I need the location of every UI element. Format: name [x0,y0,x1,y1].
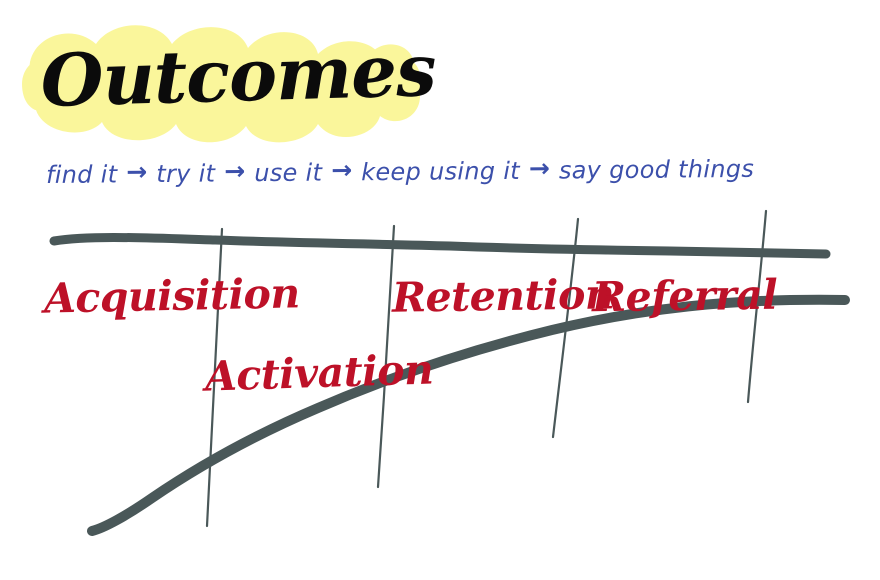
arrow-icon-2: → [215,156,254,185]
page-title: Outcomes [40,27,437,123]
user-journey-flow: find it → try it → use it → keep using i… [46,154,754,189]
journey-step-find-it: find it [46,160,118,189]
funnel-bottom-curve [92,300,845,531]
arrow-icon-1: → [117,157,156,186]
whiteboard-sketch-canvas: Outcomes find it → try it → use it → kee… [0,0,880,580]
journey-step-try-it: try it [156,160,215,189]
stage-label-acquisition: Acquisition [44,269,301,322]
stage-label-referral: Referral [592,271,778,322]
stage-label-activation: Activation [204,345,434,400]
journey-step-use-it: use it [254,159,322,188]
journey-step-keep-using-it: keep using it [361,157,520,186]
journey-step-say-good-things: say good things [559,155,754,185]
funnel-top-line [54,237,826,254]
stage-label-retention: Retention [392,270,615,321]
arrow-icon-3: → [322,155,361,184]
arrow-icon-4: → [520,154,559,183]
